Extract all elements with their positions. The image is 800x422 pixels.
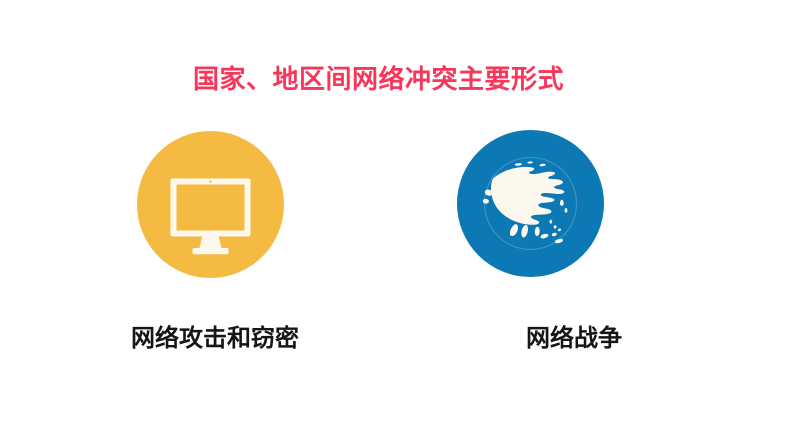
badge-cyber-attack[interactable] xyxy=(137,131,284,278)
item-cyber-attack[interactable]: 网络攻击和窃密 xyxy=(96,131,326,278)
page-title: 国家、地区间网络冲突主要形式 xyxy=(0,64,757,96)
item-caption-cyber-attack: 网络攻击和窃密 xyxy=(100,323,330,353)
badge-cyber-war[interactable] xyxy=(457,130,604,277)
slide-canvas: 国家、地区间网络冲突主要形式 网络攻击和窃密 xyxy=(0,0,800,422)
item-cyber-war[interactable]: 网络战争 xyxy=(413,131,643,278)
globe-asia-icon xyxy=(457,130,604,277)
desktop-monitor-icon xyxy=(137,131,284,278)
item-caption-cyber-war: 网络战争 xyxy=(459,323,689,353)
